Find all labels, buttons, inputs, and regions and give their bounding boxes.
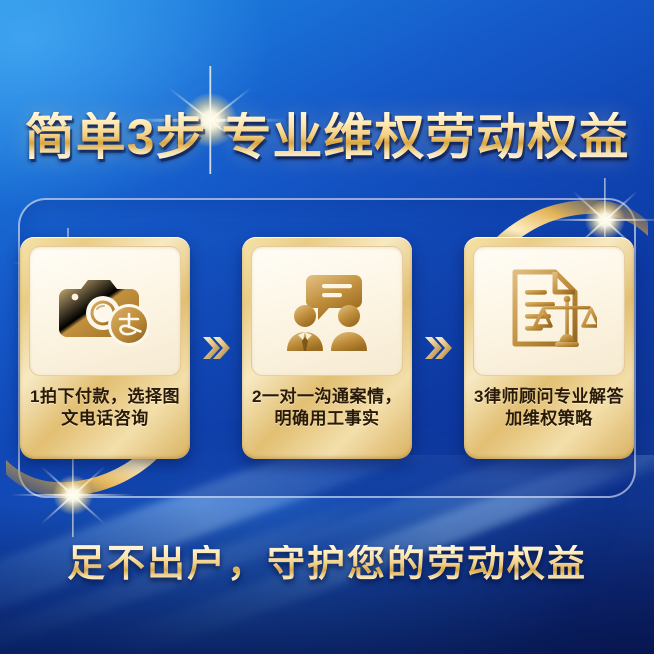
step-card-1[interactable]: 1拍下付款，选择图文电话咨询 xyxy=(20,237,190,459)
double-chevron-right-icon xyxy=(201,335,231,361)
step-2-icon-panel xyxy=(251,246,403,376)
page-title: 简单3步 专业维权劳动权益 xyxy=(0,112,654,162)
steps-list: 1拍下付款，选择图文电话咨询 xyxy=(18,198,636,498)
step-3-text: 3律师顾问专业解答加维权策略 xyxy=(473,386,625,431)
camera-alipay-icon xyxy=(57,269,153,353)
double-chevron-right-icon xyxy=(423,335,453,361)
step-card-3[interactable]: 3律师顾问专业解答加维权策略 xyxy=(464,237,634,459)
step-card-2[interactable]: 2一对一沟通案情，明确用工事实 xyxy=(242,237,412,459)
step-2-text: 2一对一沟通案情，明确用工事实 xyxy=(251,386,403,431)
bottom-slogan: 足不出户，守护您的劳动权益 xyxy=(0,545,654,583)
promo-poster: 简单3步 专业维权劳动权益 简单3步 专业维权劳动权益 xyxy=(0,0,654,654)
step-separator-1 xyxy=(190,335,242,361)
step-3-icon-panel xyxy=(473,246,625,376)
step-1-text: 1拍下付款，选择图文电话咨询 xyxy=(29,386,181,431)
step-separator-2 xyxy=(412,335,464,361)
two-people-chat-icon xyxy=(279,269,375,353)
document-scales-icon xyxy=(501,268,597,354)
step-1-icon-panel xyxy=(29,246,181,376)
